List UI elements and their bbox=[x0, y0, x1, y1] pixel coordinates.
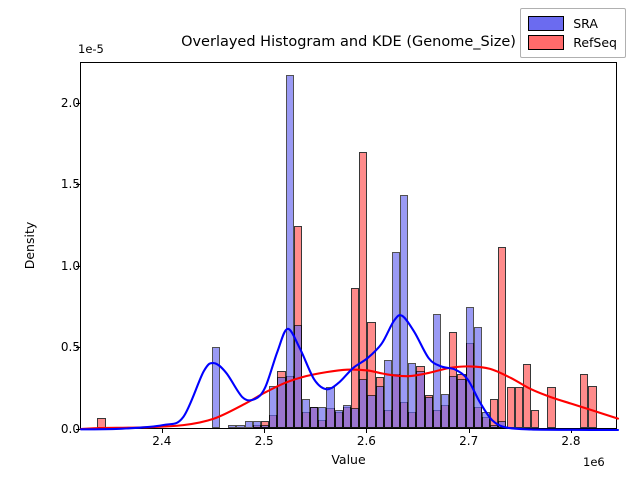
legend-label: SRA bbox=[573, 16, 598, 31]
legend-swatch bbox=[528, 35, 564, 50]
y-tick-label: 1.5 bbox=[34, 177, 80, 191]
legend-label: RefSeq bbox=[573, 35, 617, 50]
x-tick-label: 2.4 bbox=[132, 434, 192, 448]
y-axis-label: Density bbox=[22, 62, 42, 429]
legend-item-refseq[interactable]: RefSeq bbox=[528, 33, 617, 52]
x-tick-label: 2.5 bbox=[234, 434, 294, 448]
y-tick-label: 1.0 bbox=[34, 259, 80, 273]
kde-curves bbox=[81, 63, 618, 430]
legend[interactable]: SRARefSeq bbox=[520, 8, 626, 58]
plot-area bbox=[80, 62, 617, 429]
kde-curve-sra bbox=[81, 315, 618, 430]
x-tick-label: 2.6 bbox=[336, 434, 396, 448]
x-tick-label: 2.8 bbox=[541, 434, 601, 448]
x-axis-label: Value bbox=[80, 452, 617, 467]
y-tick-label: 0.0 bbox=[34, 422, 80, 436]
y-axis-multiplier: 1e-5 bbox=[78, 42, 104, 56]
legend-item-sra[interactable]: SRA bbox=[528, 14, 617, 33]
y-tick-label: 0.5 bbox=[34, 340, 80, 354]
kde-curve-refseq bbox=[81, 366, 618, 429]
legend-swatch bbox=[528, 16, 564, 31]
y-tick-label: 2.0 bbox=[34, 96, 80, 110]
figure: Overlayed Histogram and KDE (Genome_Size… bbox=[0, 0, 640, 480]
x-tick-label: 2.7 bbox=[439, 434, 499, 448]
